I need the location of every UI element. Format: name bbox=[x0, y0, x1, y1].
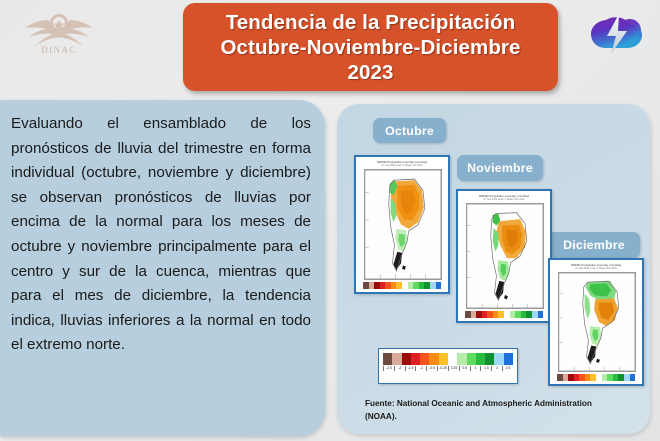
title-line-1: Tendencia de la Precipitación bbox=[226, 10, 516, 35]
map-plot-octubre bbox=[364, 169, 442, 280]
month-label-octubre: Octubre bbox=[373, 118, 446, 143]
map-card-octubre[interactable]: NMME Precipitation Anomaly (mm/day) IC: … bbox=[354, 155, 450, 294]
legend-tick-10: 2 bbox=[491, 366, 502, 371]
legend-color-bar bbox=[383, 353, 513, 365]
legend-swatch-13 bbox=[504, 353, 513, 365]
legend-swatch-8 bbox=[457, 353, 466, 365]
legend-swatch-5 bbox=[429, 353, 438, 365]
legend-swatch-0 bbox=[383, 353, 392, 365]
title-line-2: Octubre-Noviembre-Diciembre bbox=[220, 35, 520, 60]
map-plot-diciembre bbox=[558, 272, 636, 372]
legend-tick-2: -1.5 bbox=[405, 366, 416, 371]
map-plot-noviembre bbox=[466, 203, 544, 309]
legend-tick-9: 1.5 bbox=[480, 366, 491, 371]
map-subtitle-noviembre: IC: Sep 2023 Lead: 2 Target: Nov 2023 bbox=[458, 198, 550, 201]
map-card-diciembre[interactable]: NMME Precipitation Anomaly (mm/day) IC: … bbox=[548, 258, 644, 386]
precipitation-anomaly-legend: -2.5-2-1.5-1-0.5-0.250.250.511.522.5 bbox=[378, 348, 518, 384]
legend-swatch-1 bbox=[392, 353, 401, 365]
slide-title: Tendencia de la Precipitación Octubre-No… bbox=[183, 3, 558, 91]
dinac-logo-text: DINAC bbox=[41, 45, 77, 55]
legend-tick-1: -2 bbox=[394, 366, 405, 371]
legend-swatch-4 bbox=[420, 353, 429, 365]
legend-tick-8: 1 bbox=[470, 366, 481, 371]
legend-swatch-13 bbox=[436, 282, 442, 289]
legend-tick-7: 0.5 bbox=[459, 366, 470, 371]
map-card-noviembre[interactable]: NMME Precipitation Anomaly (mm/day) IC: … bbox=[456, 189, 552, 323]
legend-swatch-2 bbox=[402, 353, 411, 365]
map-subtitle-octubre: IC: Sep 2023 Lead: 1 Target: Oct 2023 bbox=[356, 164, 448, 167]
legend-swatch-3 bbox=[411, 353, 420, 365]
legend-tick-0: -2.5 bbox=[383, 366, 394, 371]
month-label-diciembre: Diciembre bbox=[548, 232, 640, 258]
map-colorbar-diciembre bbox=[557, 374, 635, 381]
legend-tick-11: 2.5 bbox=[502, 366, 513, 371]
legend-swatch-7 bbox=[448, 353, 457, 365]
legend-tick-4: -0.5 bbox=[426, 366, 437, 371]
description-panel: Evaluando el ensamblado de los pronóstic… bbox=[0, 100, 325, 436]
legend-swatch-9 bbox=[467, 353, 476, 365]
legend-tick-5: -0.25 bbox=[437, 366, 448, 371]
dinac-logo: DINAC bbox=[6, 4, 112, 56]
storm-cloud-logo bbox=[586, 6, 648, 68]
legend-tick-6: 0.25 bbox=[448, 366, 459, 371]
slide-root: DINAC Tendencia de la Precipitación bbox=[0, 0, 660, 441]
map-colorbar-noviembre bbox=[465, 311, 543, 318]
title-line-3: 2023 bbox=[347, 60, 393, 85]
legend-swatch-13 bbox=[630, 374, 636, 381]
source-note: Fuente: National Oceanic and Atmospheric… bbox=[365, 398, 595, 423]
legend-tick-3: -1 bbox=[415, 366, 426, 371]
map-subtitle-diciembre: IC: Sep 2023 Lead: 3 Target: Dec 2023 bbox=[550, 267, 642, 270]
legend-swatch-11 bbox=[485, 353, 494, 365]
legend-swatch-6 bbox=[439, 353, 448, 365]
map-colorbar-octubre bbox=[363, 282, 441, 289]
legend-swatch-13 bbox=[538, 311, 544, 318]
legend-tick-labels: -2.5-2-1.5-1-0.5-0.250.250.511.522.5 bbox=[383, 366, 513, 371]
description-text: Evaluando el ensamblado de los pronóstic… bbox=[11, 112, 311, 358]
legend-swatch-10 bbox=[476, 353, 485, 365]
month-label-noviembre: Noviembre bbox=[457, 155, 543, 181]
legend-swatch-12 bbox=[494, 353, 503, 365]
